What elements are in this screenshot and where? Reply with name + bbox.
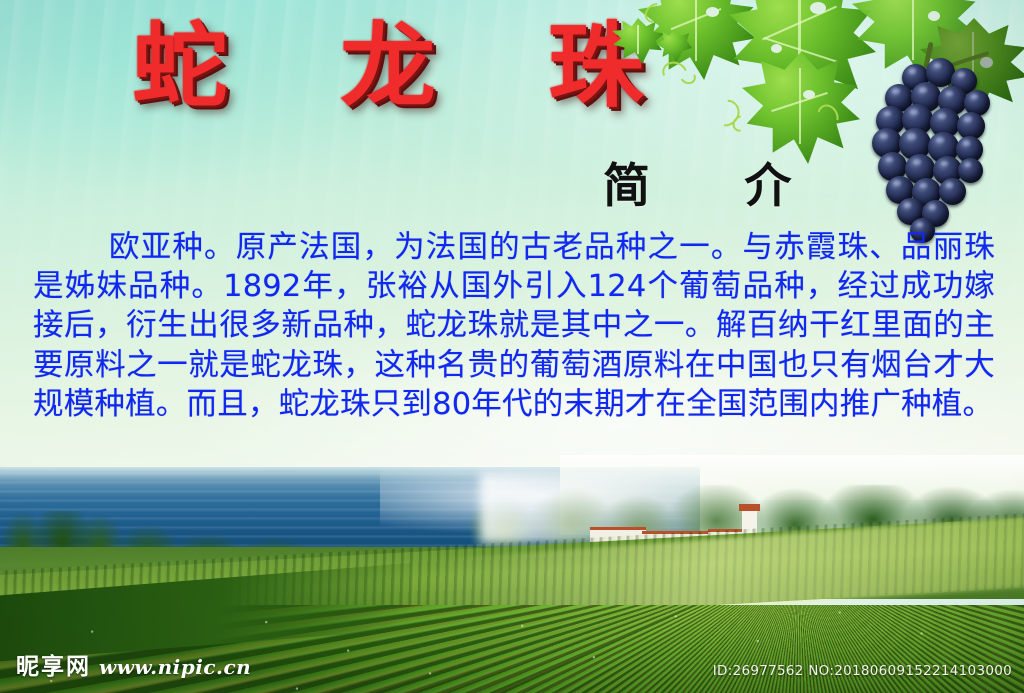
watermark-brand: 昵享网: [16, 647, 91, 681]
site-watermark: 昵享网 www.nipic.cn: [16, 647, 251, 681]
grape-bunch: [852, 56, 1002, 236]
intro-paragraph: 欧亚种。原产法国，为法国的古老品种之一。与赤霞珠、品丽珠是姊妹品种。1892年，…: [33, 228, 995, 424]
grape-berry: [939, 178, 966, 205]
watermark-url: www.nipic.cn: [99, 655, 251, 679]
page-title: 蛇 龙 珠: [132, 18, 683, 115]
asset-id-line: ID:26977562 NO:20180609152214103000: [713, 663, 1012, 679]
grape-berry: [958, 158, 983, 183]
poster-canvas: 蛇 龙 珠 简 介: [0, 0, 1024, 693]
